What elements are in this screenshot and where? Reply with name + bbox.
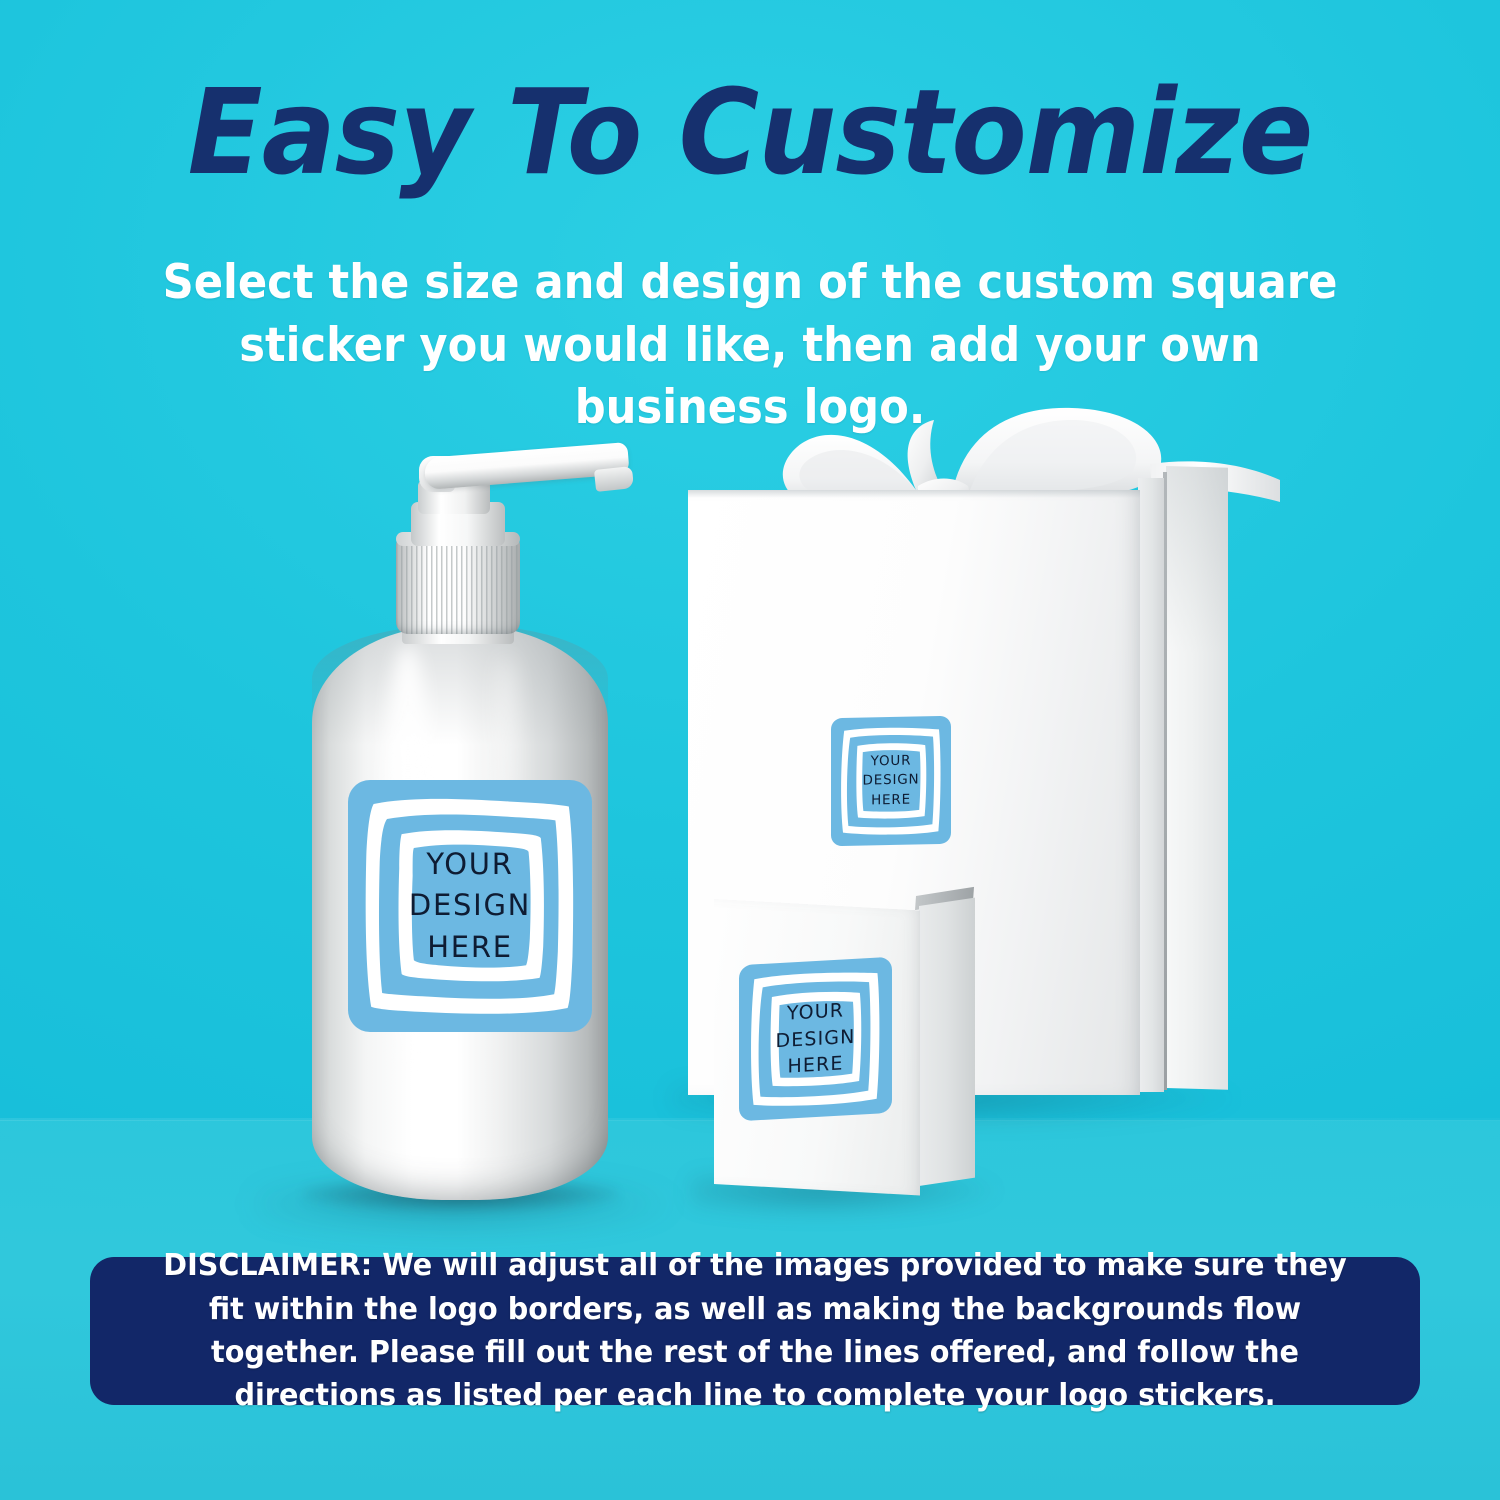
giftbox-edge-band — [1138, 478, 1164, 1092]
page-title: Easy To Customize — [53, 72, 1448, 192]
sticker-line-2: DESIGN — [863, 771, 920, 792]
sticker-text: YOUR DESIGN HERE — [739, 957, 892, 1122]
sticker-line-1: YOUR — [787, 997, 844, 1027]
bottle-ribbed-collar — [396, 536, 520, 634]
disclaimer-banner: DISCLAIMER: We will adjust all of the im… — [90, 1257, 1420, 1405]
sticker-text: YOUR DESIGN HERE — [831, 716, 951, 847]
marketing-infographic: Easy To Customize Select the size and de… — [0, 0, 1500, 1500]
sticker-on-bottle[interactable]: YOUR DESIGN HERE — [348, 780, 592, 1032]
sticker-on-giftbox[interactable]: YOUR DESIGN HERE — [831, 716, 951, 847]
sticker-line-2: DESIGN — [409, 885, 531, 926]
sticker-line-3: HERE — [787, 1051, 843, 1081]
giftbox-top-shading — [688, 490, 1140, 498]
disclaimer-body: We will adjust all of the images provide… — [209, 1248, 1347, 1413]
giftbox-side-shading — [1166, 466, 1228, 1090]
sticker-line-1: YOUR — [871, 751, 912, 771]
pump-nozzle-tip — [594, 466, 634, 492]
disclaimer-text: DISCLAIMER: We will adjust all of the im… — [162, 1244, 1348, 1417]
sticker-on-smallbox[interactable]: YOUR DESIGN HERE — [739, 957, 892, 1122]
sticker-line-3: HERE — [871, 790, 911, 810]
sticker-line-1: YOUR — [426, 844, 513, 885]
smallbox-side-panel — [919, 898, 975, 1186]
sticker-line-3: HERE — [427, 927, 513, 968]
disclaimer-label: DISCLAIMER: — [163, 1248, 372, 1283]
sticker-text: YOUR DESIGN HERE — [348, 780, 592, 1032]
